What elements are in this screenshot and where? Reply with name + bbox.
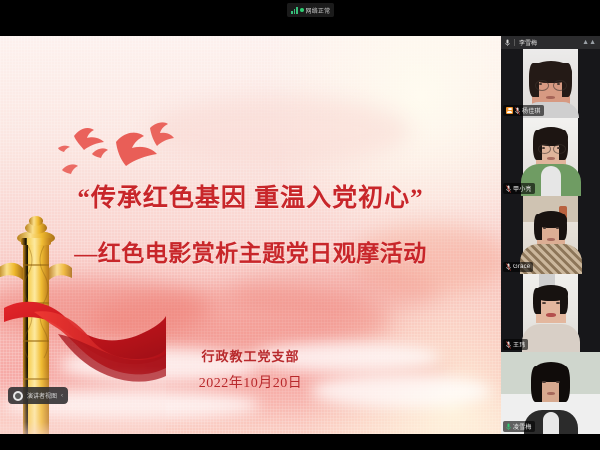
active-speaker-header: 李雪梅 ▲▲ [501, 36, 600, 49]
mic-muted-icon[interactable] [506, 341, 511, 349]
participant-name: 杨佳琪 [522, 106, 541, 115]
participant-filmstrip[interactable]: 李雪梅 ▲▲ 杨佳琪 [501, 36, 600, 434]
participant-name: 甲小亮 [513, 184, 532, 193]
mic-muted-icon[interactable] [506, 263, 511, 271]
audio-wave-icon: ▲▲ [582, 39, 596, 46]
signal-bars-icon [291, 7, 298, 14]
slide-title: “传承红色基因 重温入党初心” [0, 178, 501, 214]
participant-name: 王玮 [513, 340, 525, 349]
participant-tile[interactable]: Grace [501, 196, 600, 274]
participant-namebar: 凌雪梅 [503, 421, 535, 432]
participant-tile[interactable]: 王玮 [501, 274, 600, 352]
shared-slide[interactable]: “传承红色基因 重温入党初心” —红色电影赏析主题党日观摩活动 行政教工党支部 … [0, 36, 501, 434]
slide-organization: 行政教工党支部 [0, 346, 501, 365]
chevron-left-icon[interactable]: ‹ [61, 393, 63, 399]
top-status-bar: 网络正常 [0, 0, 600, 36]
green-status-dot [300, 8, 304, 12]
participant-tile[interactable]: 李雪梅 ▲▲ 杨佳琪 [501, 36, 600, 118]
participant-namebar: 甲小亮 [503, 183, 535, 194]
participant-name: 凌雪梅 [513, 422, 532, 431]
mic-muted-icon[interactable] [506, 185, 511, 193]
mic-muted-icon[interactable] [505, 39, 510, 47]
participant-namebar: Grace [503, 262, 533, 272]
view-mode-control[interactable]: 演讲者视图 ‹ [8, 387, 68, 404]
network-status-label: 网络正常 [306, 6, 331, 15]
participant-name: Grace [513, 264, 530, 270]
slide-date: 2022年10月20日 [0, 372, 501, 392]
participant-namebar: 王玮 [503, 339, 528, 350]
network-status-pill: 网络正常 [287, 3, 334, 17]
mic-muted-icon[interactable] [515, 107, 520, 115]
view-mode-label: 演讲者视图 [27, 391, 57, 400]
user-avatar-icon [13, 391, 23, 401]
wash-top [150, 96, 410, 166]
host-badge-icon [506, 107, 513, 114]
screen-share-window: 网络正常 [0, 0, 600, 450]
active-speaker-name: 李雪梅 [519, 38, 537, 47]
slide-subtitle: —红色电影赏析主题党日观摩活动 [0, 234, 501, 268]
participant-namebar: 杨佳琪 [503, 105, 544, 116]
mic-active-icon[interactable] [506, 423, 511, 431]
participant-tile[interactable]: 凌雪梅 [501, 352, 600, 434]
participant-tile[interactable]: 甲小亮 [501, 118, 600, 196]
